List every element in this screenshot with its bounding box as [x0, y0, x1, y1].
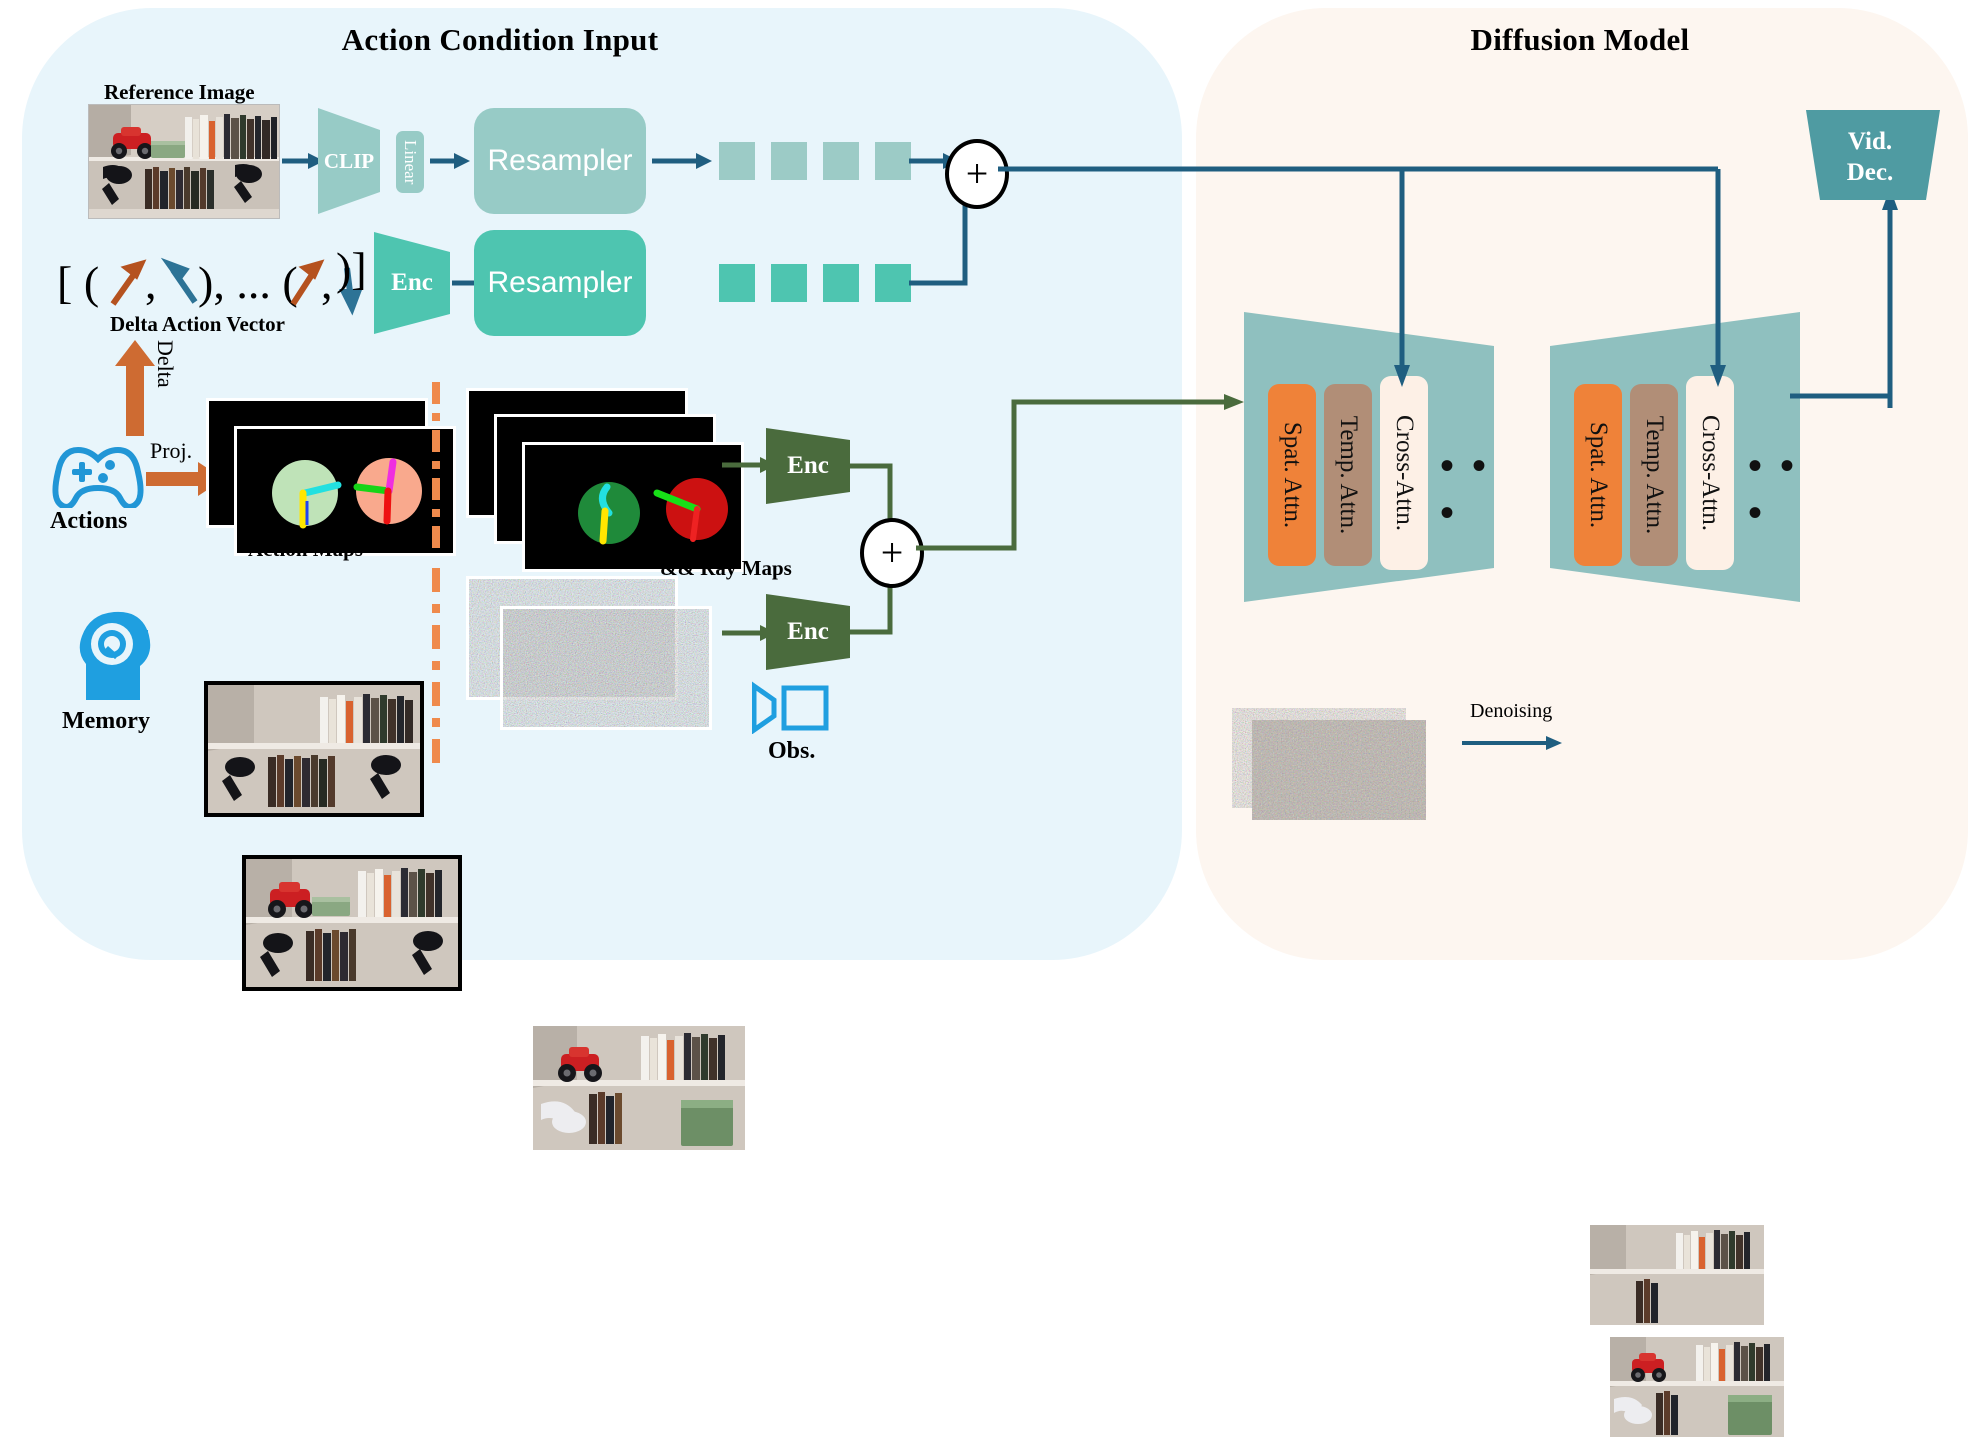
image-token-2 — [771, 142, 807, 180]
panel-title-action-condition-input: Action Condition Input — [180, 22, 820, 58]
memory-frame-front — [242, 855, 462, 991]
spat-attn-block-1: Spat. Attn. — [1268, 384, 1316, 566]
resampler-action: Resampler — [474, 230, 646, 336]
memory-label: Memory — [62, 708, 150, 735]
action-encoder: Enc — [374, 232, 450, 334]
arrow-linear-to-resampler — [430, 146, 472, 176]
delta-vector-close-bracket: )] — [336, 242, 367, 295]
video-decoder: Vid. Dec. — [1800, 110, 1940, 200]
cross-attn-block-1: Cross-Attn. — [1380, 376, 1428, 570]
divider-memory-obs — [428, 568, 444, 763]
resampler-image-label: Resampler — [487, 144, 632, 178]
denoising-label: Denoising — [1470, 700, 1552, 723]
memory-frame-back — [204, 681, 424, 817]
arrow-denoising — [1462, 728, 1566, 758]
action-token-2 — [771, 264, 807, 302]
ray-map-frame-front — [522, 442, 744, 572]
svg-text:,: , — [145, 257, 157, 308]
svg-text:[ (: [ ( — [57, 257, 99, 308]
arrow-unet2-out — [1660, 374, 1900, 418]
gamepad-icon — [48, 438, 148, 508]
reference-image — [88, 104, 280, 219]
action-token-4 — [875, 264, 911, 302]
linear-layer: Linear — [396, 131, 424, 193]
ellipsis-block-1: • • • — [1440, 442, 1494, 536]
spat-attn-block-2: Spat. Attn. — [1574, 384, 1622, 566]
obs-label: Obs. — [768, 738, 815, 765]
ellipsis-block-2: • • • — [1748, 442, 1800, 536]
ray-maps-label: && Ray Maps — [660, 556, 792, 581]
obs-enc-label: Enc — [766, 594, 850, 670]
condition-bus — [998, 165, 1778, 405]
denoise-output-front — [1610, 1337, 1784, 1437]
obs-frame-front — [530, 1023, 748, 1153]
delta-action-vector-expression: [ ( , ), ... ( , — [55, 242, 375, 322]
delta-arrow-label: Delta — [152, 340, 178, 410]
obs-camera-icon — [752, 680, 830, 734]
image-token-4 — [875, 142, 911, 180]
raymap-enc-label: Enc — [766, 428, 850, 504]
raymap-encoder: Enc — [766, 428, 850, 504]
action-maps-label: Action Maps — [248, 537, 363, 562]
divider-action-ray — [428, 382, 444, 548]
panel-title-diffusion-model: Diffusion Model — [1250, 22, 1910, 58]
plus-symbol: + — [966, 154, 989, 194]
proj-label: Proj. — [150, 438, 192, 464]
denoise-output-back — [1590, 1225, 1764, 1325]
actions-label: Actions — [50, 508, 127, 535]
obs-encoder: Enc — [766, 594, 850, 670]
action-token-1 — [719, 264, 755, 302]
memory-icon — [72, 600, 154, 704]
denoise-input-front — [1252, 720, 1426, 820]
clip-label: CLIP — [318, 108, 380, 214]
reference-image-label: Reference Image — [104, 80, 255, 105]
resampler-action-label: Resampler — [487, 266, 632, 300]
obs-frame-noise-mid — [500, 606, 712, 730]
image-token-3 — [823, 142, 859, 180]
delta-action-vector-label: Delta Action Vector — [110, 312, 285, 337]
linear-label: Linear — [400, 140, 420, 184]
image-token-1 — [719, 142, 755, 180]
svg-text:), ... (: ), ... ( — [198, 257, 298, 308]
action-token-3 — [823, 264, 859, 302]
vid-dec-line2: Dec. — [1800, 157, 1940, 188]
clip-encoder: CLIP — [318, 108, 380, 214]
temp-attn-block-1: Temp. Attn. — [1324, 384, 1372, 566]
action-enc-label: Enc — [374, 232, 450, 334]
plus-symbol-latent: + — [881, 533, 904, 573]
arrow-latent-to-unet — [914, 380, 1254, 560]
arrow-resampler-to-tokens-top — [652, 146, 714, 176]
svg-text:,: , — [321, 257, 333, 308]
resampler-image: Resampler — [474, 108, 646, 214]
vid-dec-line1: Vid. — [1800, 126, 1940, 157]
